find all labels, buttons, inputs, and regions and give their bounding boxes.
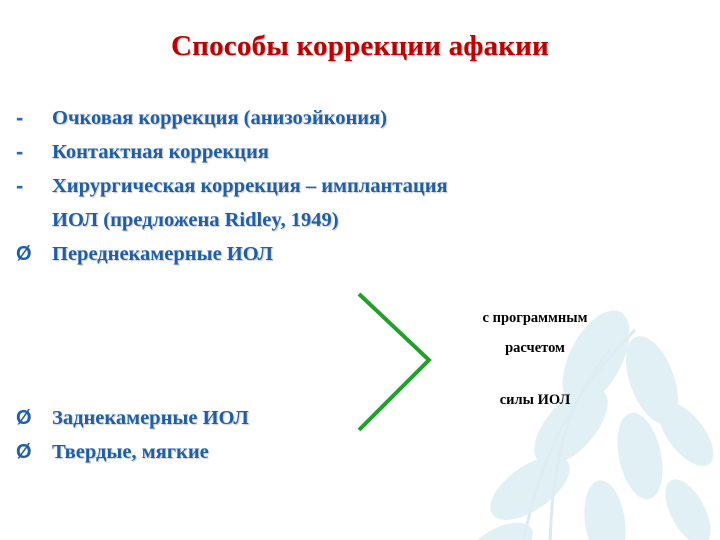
list-item: - Хирургическая коррекция – имплантация [14, 171, 704, 201]
list-item-label: Твердые, мягкие [52, 437, 209, 467]
list-item-label: Заднекамерные ИОЛ [52, 403, 249, 433]
arrow-bullet-icon: Ø [14, 403, 52, 433]
dash-bullet-icon: - [14, 171, 52, 201]
list-item-label: Хирургическая коррекция – имплантация [52, 171, 448, 201]
list-item: Ø Твердые, мягкие [14, 437, 704, 467]
list-item: Ø Переднекамерные ИОЛ [14, 239, 704, 269]
dash-bullet-icon: - [14, 103, 52, 133]
slide-canvas: Способы коррекции афакии - Очковая корре… [0, 0, 720, 540]
list-item-label: ИОЛ (предложена Ridley, 1949) [52, 205, 339, 235]
list-item: - Очковая коррекция (анизоэйкония) [14, 103, 704, 133]
list-item-label: Контактная коррекция [52, 137, 269, 167]
slide-title: Способы коррекции афакии [0, 30, 720, 63]
list-item-continuation: ИОЛ (предложена Ridley, 1949) [14, 205, 704, 235]
list-item-label: Очковая коррекция (анизоэйкония) [52, 103, 387, 133]
list-item: - Контактная коррекция [14, 137, 704, 167]
bullet-list-top: - Очковая коррекция (анизоэйкония) - Кон… [14, 103, 704, 273]
arrow-bullet-icon: Ø [14, 437, 52, 467]
arrow-bullet-icon: Ø [14, 239, 52, 269]
list-item-label: Переднекамерные ИОЛ [52, 239, 273, 269]
annotation-text: с программным расчетом силы ИОЛ [420, 303, 650, 415]
annotation-line-1: с программным [420, 303, 650, 333]
dash-bullet-icon: - [14, 137, 52, 167]
list-item: Ø Заднекамерные ИОЛ [14, 403, 704, 433]
annotation-line-2: расчетом [420, 333, 650, 363]
bullet-list-bottom: Ø Заднекамерные ИОЛ Ø Твердые, мягкие [14, 403, 704, 471]
